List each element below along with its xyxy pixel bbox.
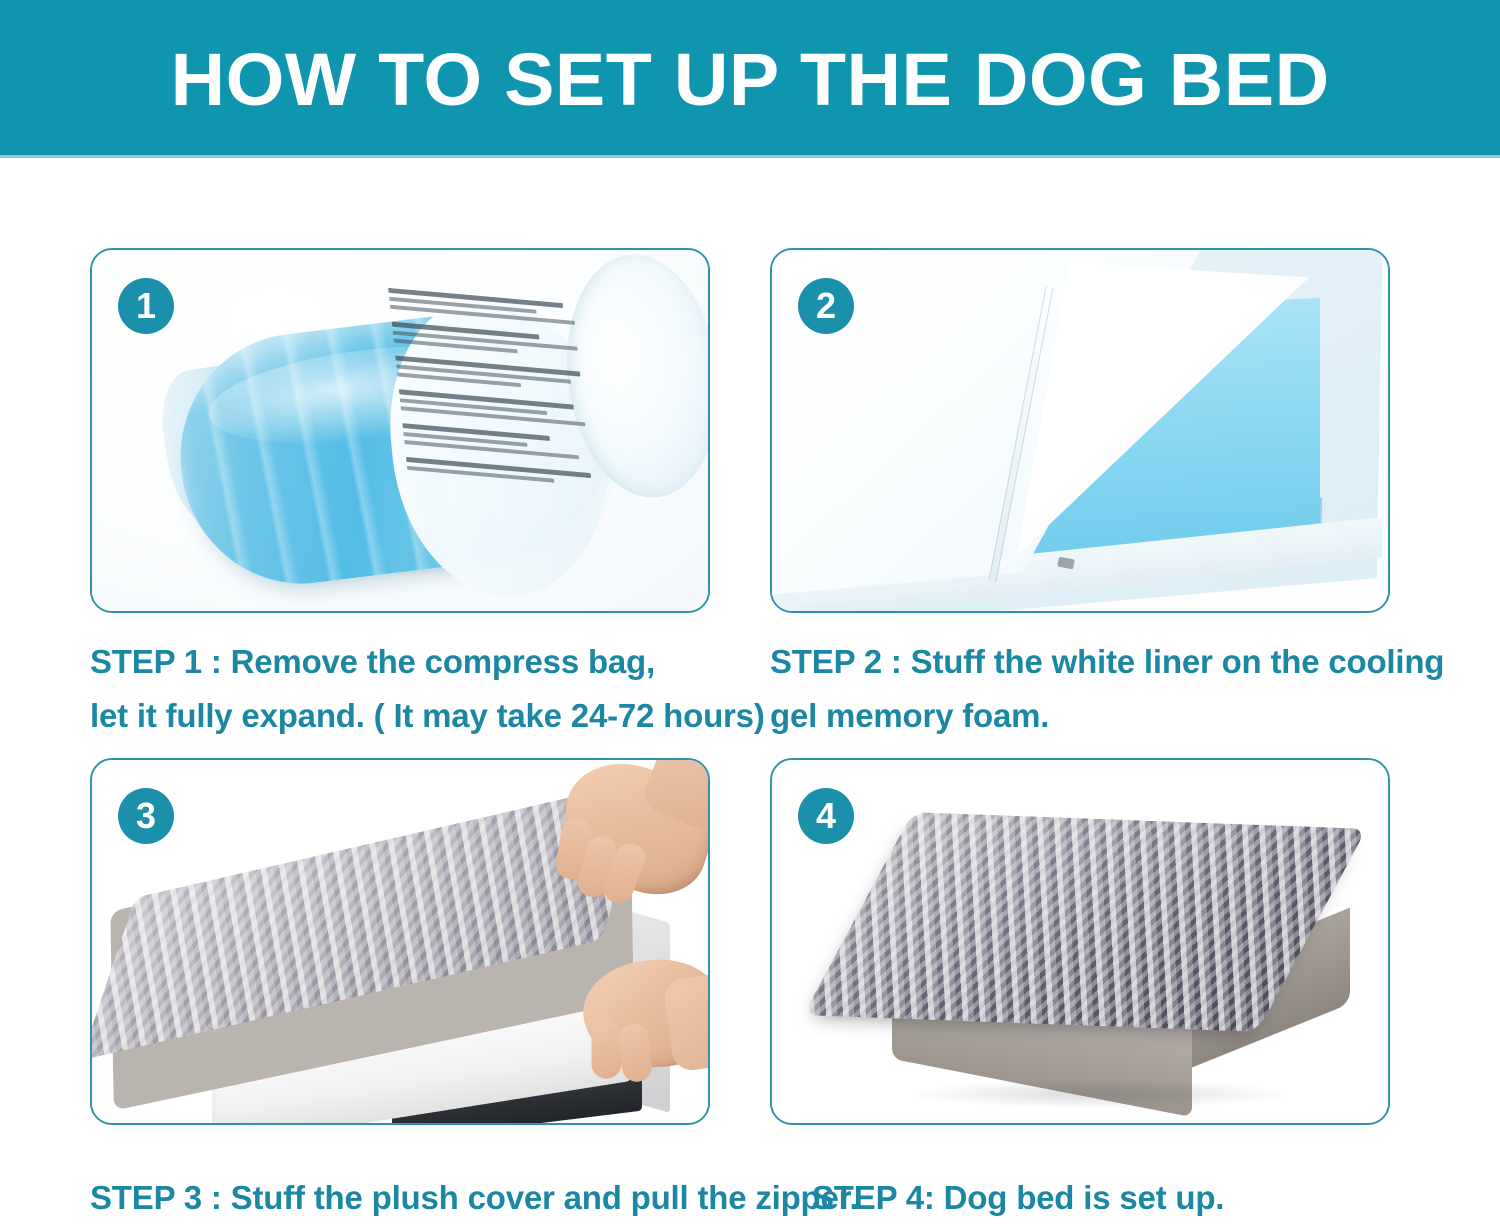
step-2-photo: 2: [770, 248, 1390, 613]
steps-grid: 1 STEP 1 : Remove the compress bag, let …: [0, 155, 1500, 1216]
liner-over-foam-illustration: [772, 250, 1388, 611]
bed-shadow: [910, 1080, 1290, 1108]
step-4-photo: 4: [770, 758, 1390, 1125]
step-3-photo: 3: [90, 758, 710, 1125]
step-1-photo: 1: [90, 248, 710, 613]
finished-dog-bed: [850, 822, 1320, 1037]
step-3-caption: STEP 3 : Stuff the plush cover and pull …: [90, 1171, 812, 1225]
step-cell-4: 4: [770, 758, 1390, 1125]
bottom-captions-row: STEP 3 : Stuff the plush cover and pull …: [90, 1171, 1450, 1225]
step-2-caption-line2: gel memory foam.: [770, 689, 1390, 743]
step-cell-3: 3: [90, 758, 710, 1125]
header-banner: HOW TO SET UP THE DOG BED: [0, 0, 1500, 155]
step-badge-2: 2: [798, 278, 854, 334]
step-2-caption-line1: STEP 2 : Stuff the white liner on the co…: [770, 635, 1390, 689]
step-cell-1: 1 STEP 1 : Remove the compress bag, let …: [90, 248, 710, 743]
page-title: HOW TO SET UP THE DOG BED: [170, 43, 1329, 117]
step-badge-1: 1: [118, 278, 174, 334]
step-1-caption-line2: let it fully expand. ( It may take 24-72…: [90, 689, 710, 743]
finished-bed-illustration: [772, 760, 1388, 1123]
compressed-roll-illustration: [92, 250, 708, 611]
step-badge-4: 4: [798, 788, 854, 844]
bag-warning-label: [388, 288, 608, 504]
stuffing-cover-illustration: [92, 760, 708, 1123]
step-1-caption-line1: STEP 1 : Remove the compress bag,: [90, 635, 710, 689]
step-badge-3: 3: [118, 788, 174, 844]
step-cell-2: 2 STEP 2 : Stuff the white liner on the …: [770, 248, 1390, 743]
step-4-caption: STEP 4: Dog bed is set up.: [812, 1171, 1224, 1225]
